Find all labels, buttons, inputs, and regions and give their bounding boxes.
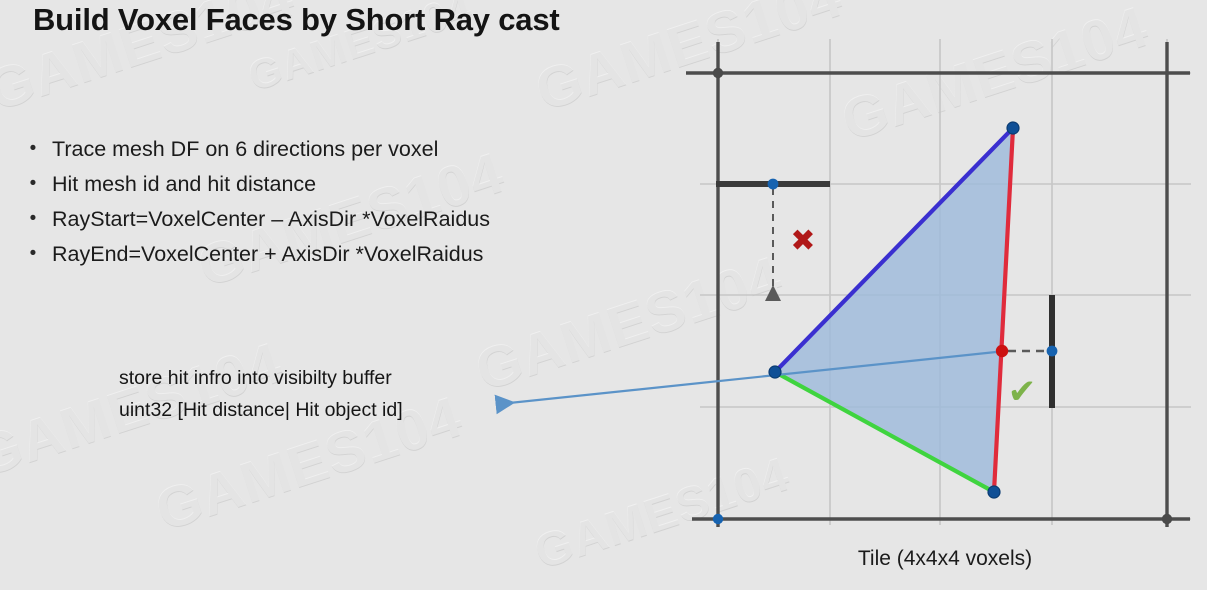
- voxel-center-point-miss: [768, 179, 779, 190]
- triangle-vertex-dot: [988, 486, 1000, 498]
- triangle-vertex-dot: [1007, 122, 1019, 134]
- list-item: • RayStart=VoxelCenter – AxisDir *VoxelR…: [14, 206, 490, 232]
- voxel-raycast-diagram: ✖ ✔: [0, 0, 1207, 590]
- bullet-marker-icon: •: [14, 206, 52, 232]
- tile-corner-dot: [713, 68, 723, 78]
- hit-point: [996, 345, 1008, 357]
- bullet-text: Hit mesh id and hit distance: [52, 171, 316, 197]
- triangle-vertex-dot: [769, 366, 781, 378]
- tile-corner-dot: [713, 514, 723, 524]
- tile-caption: Tile (4x4x4 voxels): [690, 547, 1200, 571]
- page-title: Build Voxel Faces by Short Ray cast: [33, 2, 560, 38]
- visibility-buffer-note: store hit infro into visibilty buffer ui…: [119, 362, 403, 426]
- list-item: • Trace mesh DF on 6 directions per voxe…: [14, 136, 490, 162]
- bullet-marker-icon: •: [14, 171, 52, 197]
- bullet-list: • Trace mesh DF on 6 directions per voxe…: [14, 136, 490, 276]
- tile-corner-dot: [1162, 514, 1172, 524]
- voxel-center-point-hit: [1047, 346, 1058, 357]
- bullet-marker-icon: •: [14, 241, 52, 267]
- bullet-marker-icon: •: [14, 136, 52, 162]
- bullet-text: Trace mesh DF on 6 directions per voxel: [52, 136, 438, 162]
- list-item: • Hit mesh id and hit distance: [14, 171, 490, 197]
- note-line-2: uint32 [Hit distance| Hit object id]: [119, 394, 403, 426]
- accept-check-icon: ✔: [1008, 372, 1037, 412]
- reject-cross-icon: ✖: [790, 224, 815, 259]
- bullet-text: RayStart=VoxelCenter – AxisDir *VoxelRai…: [52, 206, 490, 232]
- note-line-1: store hit infro into visibilty buffer: [119, 362, 403, 394]
- list-item: • RayEnd=VoxelCenter + AxisDir *VoxelRai…: [14, 241, 490, 267]
- bullet-text: RayEnd=VoxelCenter + AxisDir *VoxelRaidu…: [52, 241, 483, 267]
